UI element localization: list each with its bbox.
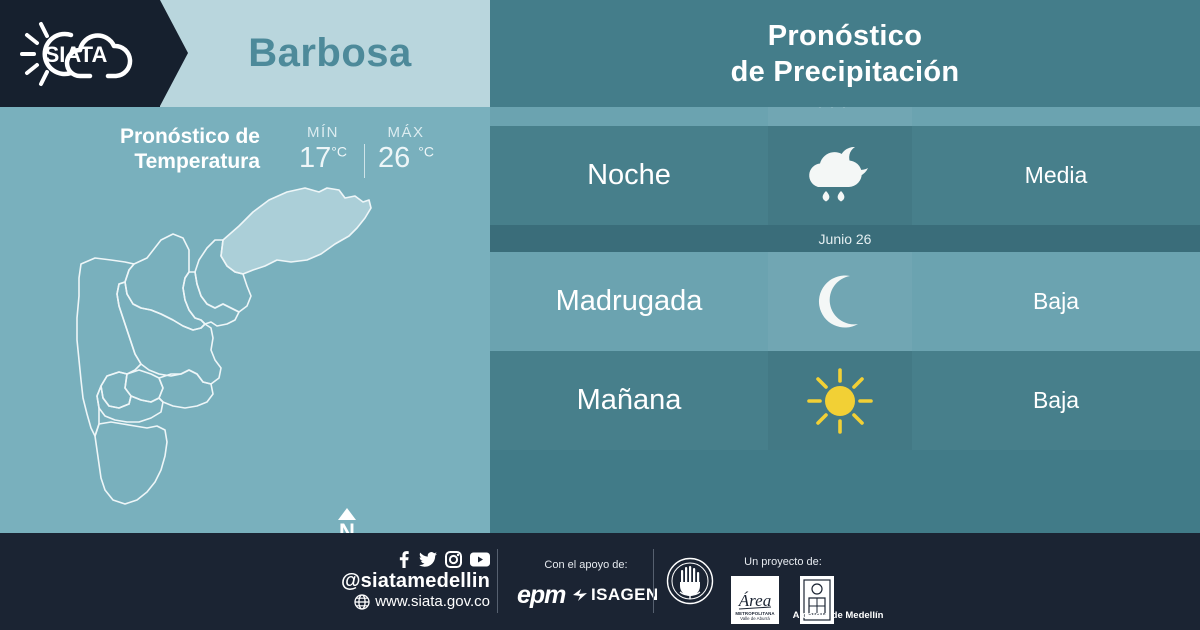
siata-logo-badge: SIATA [0,0,160,107]
isagen-wordmark: ISAGEN [591,585,659,605]
globe-icon [354,594,370,610]
footer: @siatamedellin www.siata.gov.co Con el a… [0,533,1200,630]
temperature-label-line2: Temperatura [60,149,260,174]
temperature-min-value: 17°C [282,142,364,175]
instagram-icon[interactable] [445,551,462,568]
date-bar-day2: Junio 26 [490,225,1200,252]
area-logo-line2: Valle de Aburrá [731,616,779,621]
footer-divider-2 [653,549,654,613]
temperature-min: MÍN 17°C [282,124,364,178]
forecast-header: Pronóstico de Precipitación [490,0,1200,107]
temperature-block: Pronóstico de Temperatura MÍN 17°C MÁX 2… [60,122,480,184]
city-name: Barbosa [170,0,490,107]
table-row[interactable]: Madrugada Baja [490,252,1200,351]
table-row[interactable]: Noche Media [490,126,1200,225]
epm-logo: epm [517,581,565,610]
probability-cell: Baja [912,351,1200,450]
map-region-barbosa [221,188,371,274]
temperature-values: MÍN 17°C MÁX 26 °C [282,122,447,178]
alcaldia-label: Alcaldía de Medellín [778,610,898,621]
youtube-icon[interactable] [470,551,490,568]
temperature-max-unit: °C [418,143,434,159]
temperature-min-unit: °C [331,143,347,159]
infographic-root: SIATA Barbosa Pronóstico de Temperatura … [0,0,1200,630]
footer-divider-1 [497,549,498,613]
temperature-min-caption: MÍN [282,124,364,141]
social-handle[interactable]: @siatamedellin [330,570,490,593]
project-caption: Un proyecto de: [718,556,848,568]
table-row[interactable]: Mañana Ba [490,351,1200,450]
period-cell: Madrugada [490,252,768,351]
unal-seal-icon [666,557,714,605]
forecast-title-line2: de Precipitación [731,54,960,90]
support-caption: Con el apoyo de: [516,559,656,571]
probability-label: Media [1025,162,1088,189]
weather-icon-cell [768,126,912,225]
precipitation-panel: Pronóstico de Precipitación Junio 25 Tar… [490,0,1200,533]
period-label: Madrugada [556,285,703,318]
aburra-valley-map: N [55,178,455,523]
sun-cloud-icon: SIATA [14,18,146,90]
probability-cell: Baja [912,252,1200,351]
temperature-max-caption: MÁX [365,124,447,141]
temperature-max-value: 26 °C [365,142,447,175]
isagen-logo: ISAGEN [572,585,659,605]
probability-label: Baja [1033,288,1079,315]
probability-cell: Media [912,126,1200,225]
probability-label: Baja [1033,387,1079,414]
forecast-title-line1: Pronóstico [768,18,922,54]
night-rain-icon [798,141,882,211]
siata-logo-text: SIATA [45,42,108,67]
website-url: www.siata.gov.co [375,593,490,611]
moon-icon [798,267,882,337]
weather-icon-cell [768,252,912,351]
temperature-label-line1: Pronóstico de [60,124,260,149]
weather-icon-cell [768,351,912,450]
period-cell: Noche [490,126,768,225]
period-cell: Mañana [490,351,768,450]
social-block: @siatamedellin www.siata.gov.co [330,551,490,611]
twitter-icon[interactable] [419,551,437,568]
period-label: Noche [587,159,671,192]
temperature-max: MÁX 26 °C [365,124,447,178]
facebook-icon[interactable] [396,551,411,568]
sun-icon [798,364,882,438]
isagen-mark-icon [572,588,588,602]
period-label: Mañana [577,384,682,417]
city-header-band: SIATA Barbosa [0,0,490,107]
map-svg [55,178,455,523]
website-line[interactable]: www.siata.gov.co [330,593,490,611]
social-icons [330,551,490,568]
temperature-label: Pronóstico de Temperatura [60,122,260,174]
left-panel: SIATA Barbosa Pronóstico de Temperatura … [0,0,490,533]
